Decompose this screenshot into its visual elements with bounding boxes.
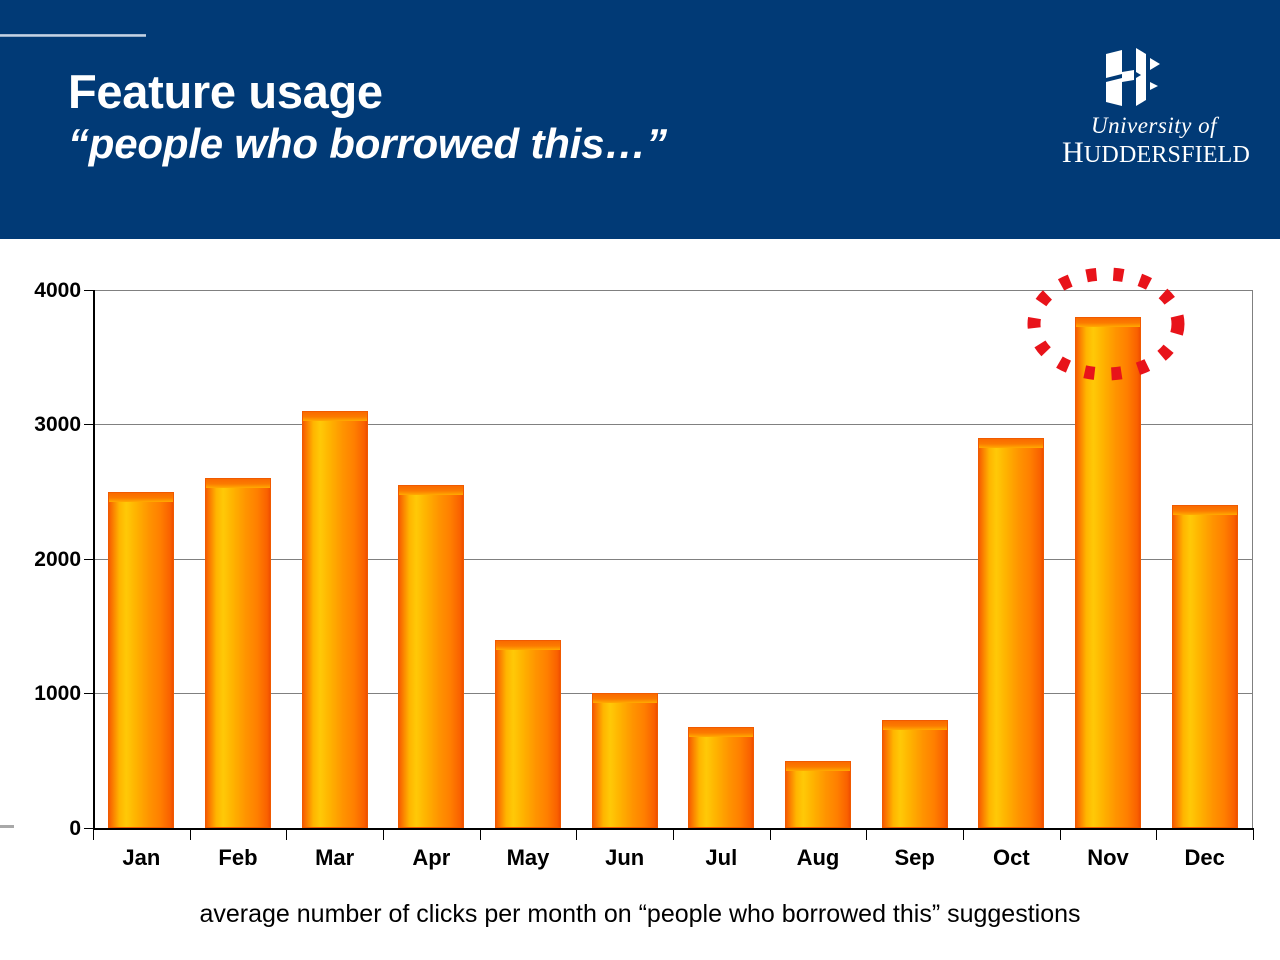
x-tick-label-may: May xyxy=(480,847,577,869)
bar-top-cap xyxy=(303,412,367,421)
logo-university-text: University of xyxy=(1074,114,1234,137)
bar-top-cap xyxy=(109,493,173,502)
x-tick-label-jul: Jul xyxy=(673,847,770,869)
bar-apr[interactable] xyxy=(398,485,464,828)
huddersfield-shield-h-icon xyxy=(1100,48,1168,110)
x-tick-label-mar: Mar xyxy=(286,847,383,869)
y-tick-mark-1000 xyxy=(84,693,93,694)
x-tick-label-aug: Aug xyxy=(770,847,867,869)
bar-jan[interactable] xyxy=(108,492,174,828)
x-tick-label-jan: Jan xyxy=(93,847,190,869)
x-tick-label-dec: Dec xyxy=(1156,847,1253,869)
y-tick-mark-2000 xyxy=(84,559,93,560)
plot-area xyxy=(93,290,1253,828)
bar-slot-jun xyxy=(576,290,673,828)
bar-slot-sep xyxy=(866,290,963,828)
bar-sep[interactable] xyxy=(882,720,948,828)
bar-may[interactable] xyxy=(495,640,561,828)
bar-top-cap xyxy=(883,721,947,730)
slide-root: Feature usage “people who borrowed this…… xyxy=(0,0,1280,960)
bar-top-cap xyxy=(1173,506,1237,515)
bar-feb[interactable] xyxy=(205,478,271,828)
bar-jun[interactable] xyxy=(592,693,658,828)
x-tick-mark-9 xyxy=(963,828,964,840)
x-tick-mark-8 xyxy=(866,828,867,840)
x-tick-mark-0 xyxy=(93,828,94,840)
x-tick-label-apr: Apr xyxy=(383,847,480,869)
bar-top-cap xyxy=(496,641,560,650)
y-tick-mark-3000 xyxy=(84,424,93,425)
y-tick-mark-0 xyxy=(84,828,93,829)
axis-left-stub xyxy=(0,825,14,828)
bar-slot-apr xyxy=(383,290,480,828)
x-tick-label-jun: Jun xyxy=(576,847,673,869)
bar-oct[interactable] xyxy=(978,438,1044,828)
bar-slot-mar xyxy=(286,290,383,828)
bar-dec[interactable] xyxy=(1172,505,1238,828)
bar-mar[interactable] xyxy=(302,411,368,828)
x-tick-mark-3 xyxy=(383,828,384,840)
x-tick-label-feb: Feb xyxy=(190,847,287,869)
bar-nov[interactable] xyxy=(1075,317,1141,828)
title-block: Feature usage “people who borrowed this…… xyxy=(68,68,968,167)
y-tick-label-1000: 1000 xyxy=(34,683,81,704)
x-tick-mark-2 xyxy=(286,828,287,840)
page-title: Feature usage xyxy=(68,68,968,116)
bar-slot-aug xyxy=(770,290,867,828)
y-tick-label-0: 0 xyxy=(69,818,81,839)
university-logo: University of HUDDERSFIELD xyxy=(1062,48,1237,170)
bar-chart: 4000 3000 2000 1000 0 JanFebMarApr xyxy=(0,239,1280,960)
page-subtitle: “people who borrowed this…” xyxy=(68,120,968,167)
chart-caption: average number of clicks per month on “p… xyxy=(0,902,1280,927)
x-tick-mark-10 xyxy=(1060,828,1061,840)
x-tick-label-oct: Oct xyxy=(963,847,1060,869)
x-axis-labels: JanFebMarAprMayJunJulAugSepOctNovDec xyxy=(93,847,1253,879)
bar-series xyxy=(93,290,1253,828)
logo-hudd-rest: UDDERSFIELD xyxy=(1084,142,1250,168)
bar-slot-oct xyxy=(963,290,1060,828)
bar-slot-nov xyxy=(1060,290,1157,828)
bar-top-cap xyxy=(689,728,753,737)
bar-top-cap xyxy=(206,479,270,488)
y-tick-label-2000: 2000 xyxy=(34,549,81,570)
logo-hudd-cap: H xyxy=(1062,136,1084,169)
x-axis-ticks xyxy=(93,828,1254,840)
bar-top-cap xyxy=(1076,318,1140,327)
slide-header-band: Feature usage “people who borrowed this…… xyxy=(0,0,1280,239)
x-tick-label-sep: Sep xyxy=(866,847,963,869)
bar-slot-jul xyxy=(673,290,770,828)
bar-jul[interactable] xyxy=(688,727,754,828)
x-tick-label-nov: Nov xyxy=(1060,847,1157,869)
bar-slot-jan xyxy=(93,290,190,828)
bar-slot-dec xyxy=(1156,290,1253,828)
x-tick-mark-7 xyxy=(770,828,771,840)
bar-slot-feb xyxy=(190,290,287,828)
y-axis-labels: 4000 3000 2000 1000 0 xyxy=(0,290,82,828)
y-tick-mark-4000 xyxy=(84,290,93,291)
x-tick-mark-6 xyxy=(673,828,674,840)
bar-top-cap xyxy=(593,694,657,703)
bar-top-cap xyxy=(979,439,1043,448)
y-tick-label-3000: 3000 xyxy=(34,414,81,435)
x-tick-mark-4 xyxy=(480,828,481,840)
x-tick-mark-end xyxy=(1253,828,1254,840)
logo-huddersfield-text: HUDDERSFIELD xyxy=(1062,138,1240,168)
bar-aug[interactable] xyxy=(785,761,851,828)
bar-slot-may xyxy=(480,290,577,828)
bar-top-cap xyxy=(786,762,850,771)
bar-top-cap xyxy=(399,486,463,495)
x-tick-mark-11 xyxy=(1156,828,1157,840)
y-tick-label-4000: 4000 xyxy=(34,280,81,301)
x-tick-mark-5 xyxy=(576,828,577,840)
header-accent-rule xyxy=(0,34,146,37)
x-tick-mark-1 xyxy=(190,828,191,840)
